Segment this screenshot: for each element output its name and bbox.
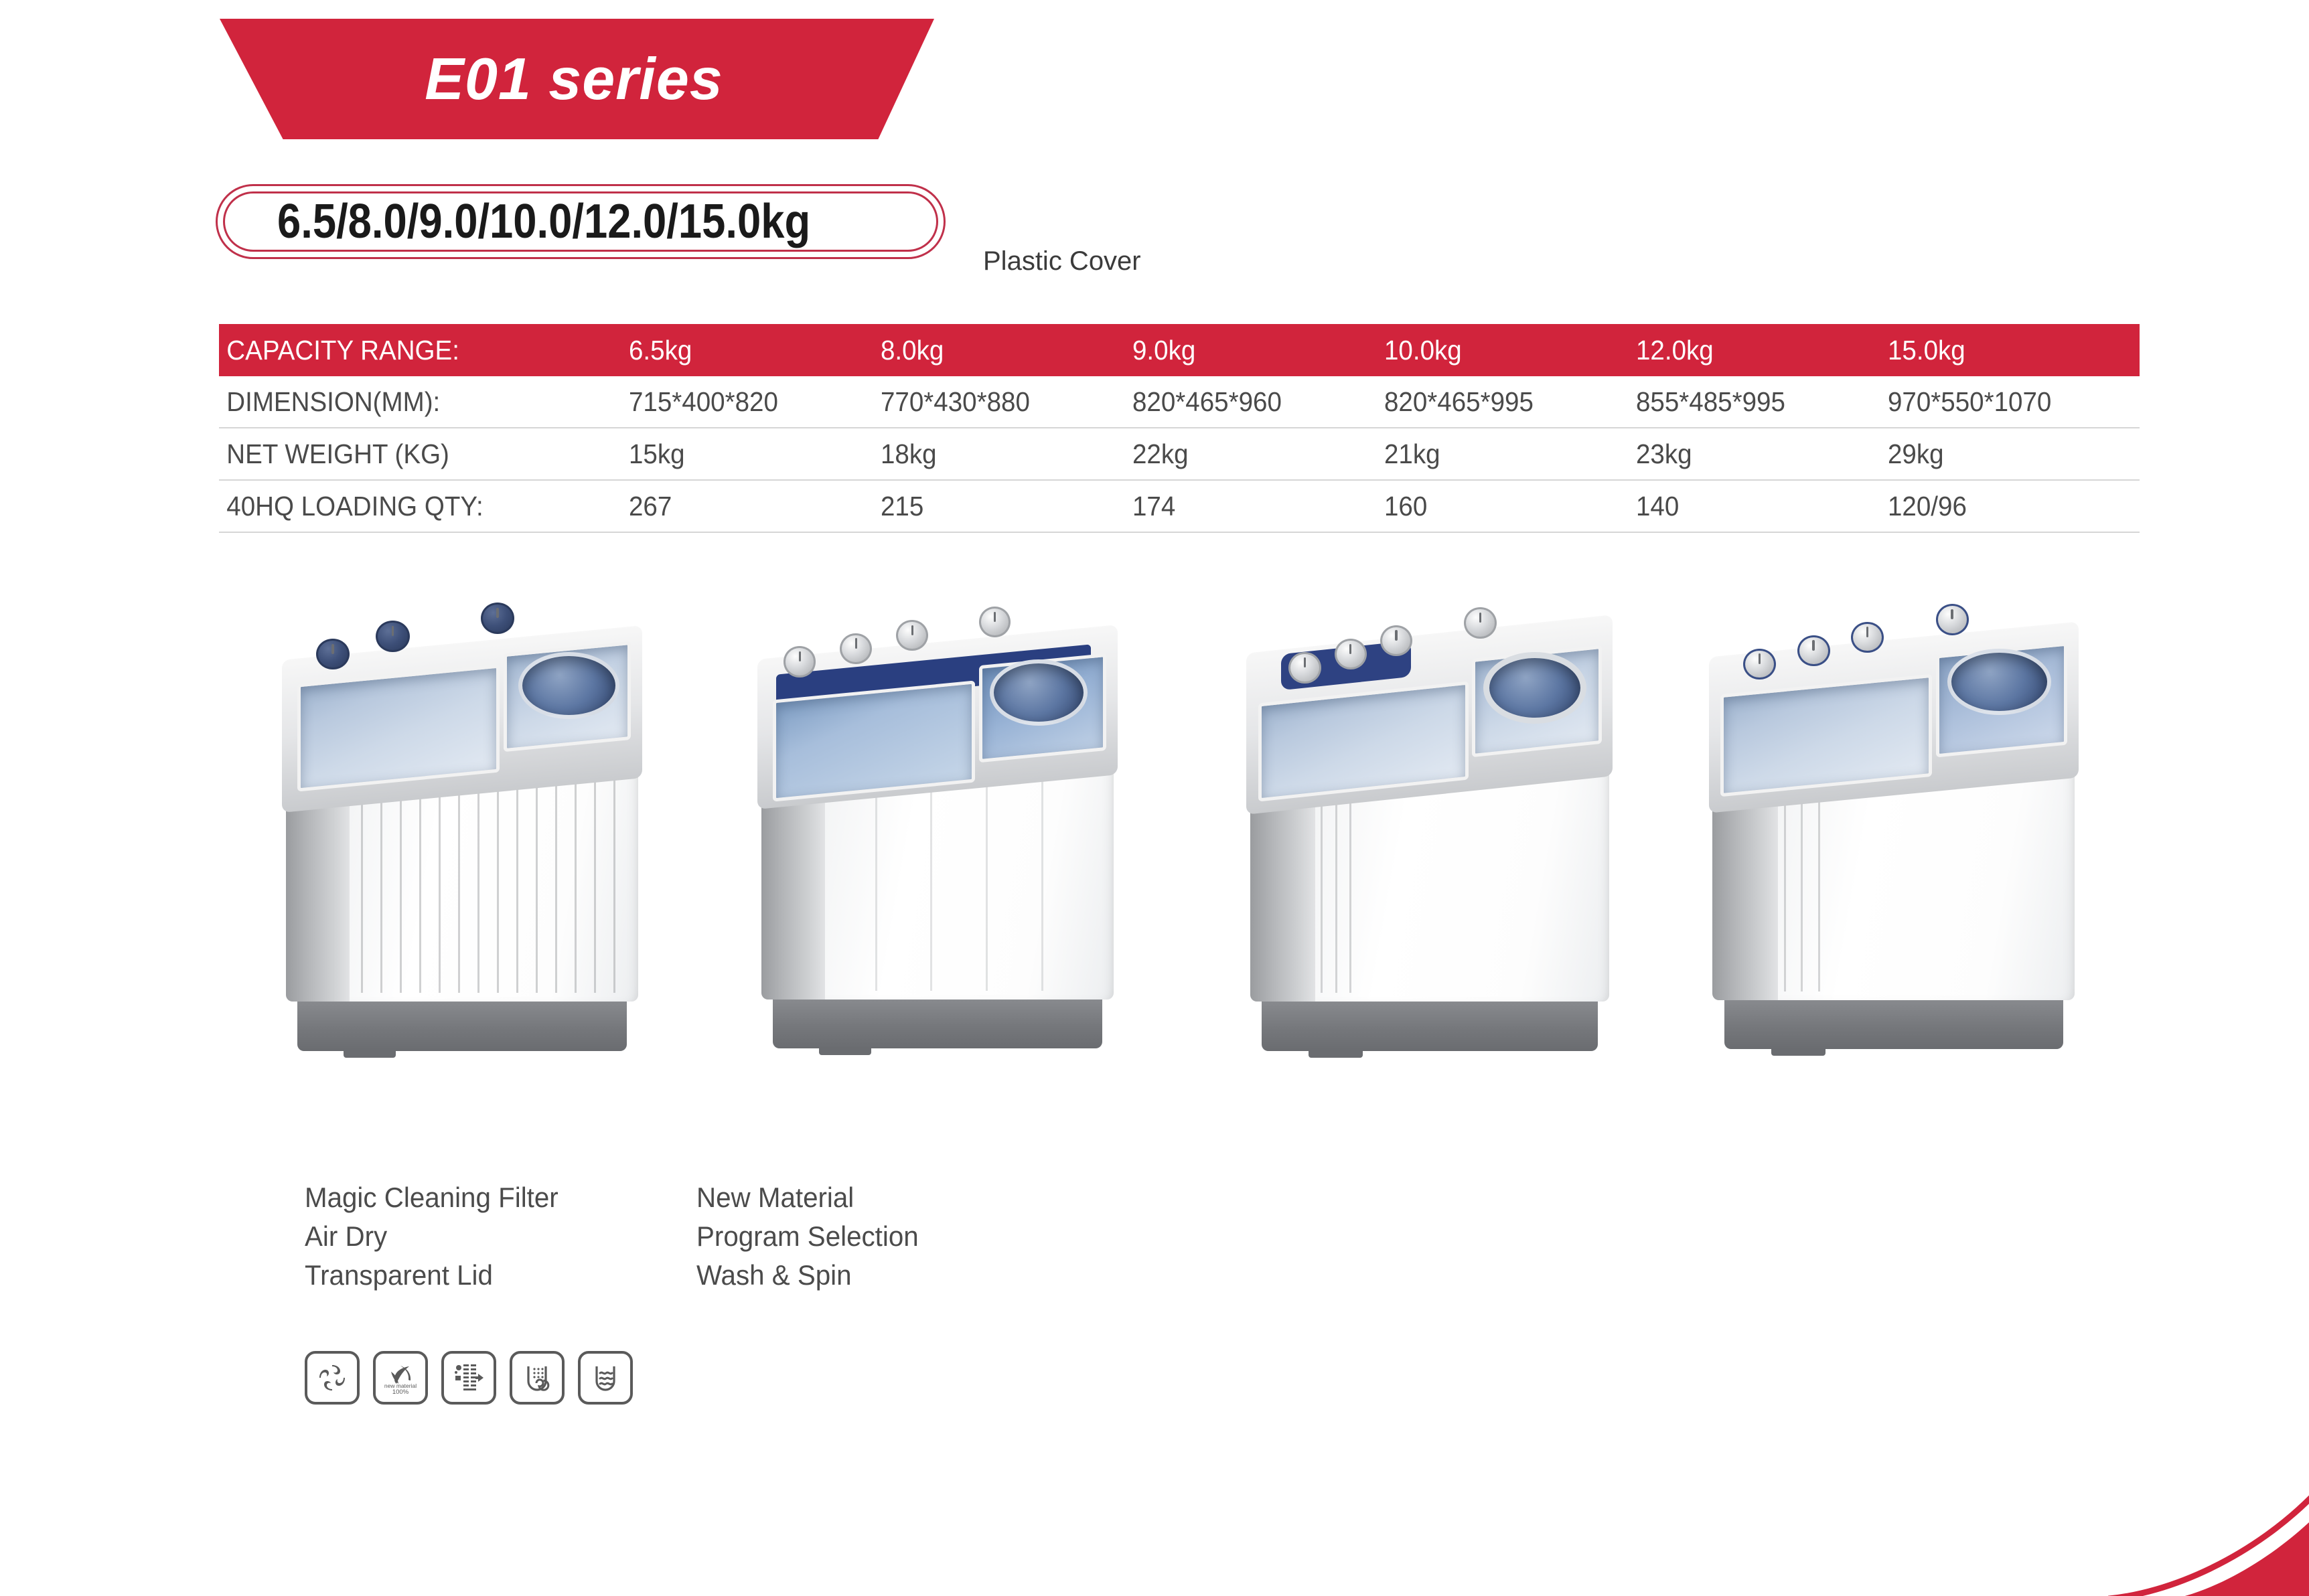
row-value: 21kg bbox=[1384, 438, 1621, 470]
page-title: E01 series bbox=[198, 19, 934, 139]
feature-badge-row: new material 100% bbox=[305, 1351, 633, 1405]
leaf-new-material-icon: new material 100% bbox=[382, 1360, 419, 1396]
wash-lid-glass bbox=[297, 665, 500, 792]
air-dry-spiral-icon bbox=[520, 1361, 554, 1394]
product-image-1 bbox=[275, 603, 650, 1051]
badge-air-dry bbox=[510, 1351, 565, 1405]
table-row: NET WEIGHT (KG) 15kg 18kg 22kg 21kg 23kg… bbox=[219, 428, 2140, 481]
corner-swoosh-decoration bbox=[2108, 1482, 2309, 1596]
product-image-3 bbox=[1239, 603, 1621, 1051]
table-header-row: CAPACITY RANGE: 6.5kg 8.0kg 9.0kg 10.0kg… bbox=[219, 324, 2140, 376]
feature-item: Magic Cleaning Filter bbox=[305, 1178, 558, 1217]
spin-timer-knob bbox=[1464, 607, 1496, 639]
program-knob bbox=[1851, 622, 1884, 653]
feature-item: Wash & Spin bbox=[696, 1256, 919, 1295]
spin-tub-port bbox=[1947, 649, 2051, 716]
spin-tub-port bbox=[990, 659, 1088, 726]
row-value: 215 bbox=[881, 491, 1117, 522]
series-banner: E01 series bbox=[198, 19, 934, 139]
header-value: 6.5kg bbox=[629, 335, 865, 366]
wash-timer-knob bbox=[1288, 652, 1321, 684]
program-knob bbox=[376, 621, 409, 652]
wash-lid-glass bbox=[773, 681, 975, 802]
header-value: 9.0kg bbox=[1132, 335, 1369, 366]
row-value: 23kg bbox=[1636, 438, 1872, 470]
header-value: 10.0kg bbox=[1384, 335, 1621, 366]
badge-vortex bbox=[305, 1351, 360, 1405]
table-row: DIMENSION(MM): 715*400*820 770*430*880 8… bbox=[219, 376, 2140, 428]
row-value: 18kg bbox=[881, 438, 1117, 470]
machine-base bbox=[773, 991, 1103, 1048]
header-value: 12.0kg bbox=[1636, 335, 1872, 366]
spin-timer-knob bbox=[481, 603, 514, 634]
vortex-spiral-icon bbox=[315, 1360, 350, 1395]
row-value: 22kg bbox=[1132, 438, 1369, 470]
spin-tub-port bbox=[518, 652, 619, 720]
svg-text:100%: 100% bbox=[392, 1388, 409, 1396]
spin-timer-knob bbox=[979, 607, 1011, 637]
header-value: 15.0kg bbox=[1888, 335, 2124, 366]
program-selection-icon bbox=[451, 1360, 486, 1395]
row-value: 855*485*995 bbox=[1636, 386, 1872, 418]
program-knob bbox=[896, 620, 928, 651]
wash-timer-knob bbox=[784, 646, 816, 677]
row-value: 120/96 bbox=[1888, 491, 2124, 522]
row-value: 820*465*960 bbox=[1132, 386, 1369, 418]
capacity-pill-text: 6.5/8.0/9.0/10.0/12.0/15.0kg bbox=[277, 194, 810, 249]
wash-selector-knob bbox=[1797, 635, 1830, 667]
row-value: 15kg bbox=[629, 438, 865, 470]
capacity-pill: 6.5/8.0/9.0/10.0/12.0/15.0kg bbox=[216, 184, 946, 259]
feature-column-left: Magic Cleaning Filter Air Dry Transparen… bbox=[305, 1178, 569, 1295]
row-label: DIMENSION(MM): bbox=[219, 386, 604, 418]
spec-table: CAPACITY RANGE: 6.5kg 8.0kg 9.0kg 10.0kg… bbox=[219, 324, 2140, 533]
spin-tub-port bbox=[1483, 652, 1586, 724]
cover-note-label: Plastic Cover bbox=[983, 246, 1141, 276]
row-value: 970*550*1070 bbox=[1888, 386, 2124, 418]
row-value: 140 bbox=[1636, 491, 1872, 522]
feature-column-right: New Material Program Selection Wash & Sp… bbox=[696, 1178, 928, 1295]
wash-lid-glass bbox=[1720, 673, 1932, 796]
capacity-pill-inner: 6.5/8.0/9.0/10.0/12.0/15.0kg bbox=[223, 191, 938, 252]
badge-wash-spin bbox=[578, 1351, 633, 1405]
header-label: CAPACITY RANGE: bbox=[219, 335, 604, 366]
feature-item: New Material bbox=[696, 1178, 919, 1217]
row-value: 715*400*820 bbox=[629, 386, 865, 418]
row-label: 40HQ LOADING QTY: bbox=[219, 491, 604, 522]
table-row: 40HQ LOADING QTY: 267 215 174 160 140 12… bbox=[219, 481, 2140, 533]
wash-selector-knob bbox=[840, 633, 872, 664]
badge-program-selection bbox=[441, 1351, 496, 1405]
product-gallery bbox=[221, 582, 2150, 1064]
wash-selector-knob bbox=[1335, 639, 1367, 670]
row-value: 160 bbox=[1384, 491, 1621, 522]
row-label: NET WEIGHT (KG) bbox=[219, 438, 604, 470]
badge-new-material: new material 100% bbox=[373, 1351, 428, 1405]
spin-timer-knob bbox=[1936, 604, 1969, 635]
row-value: 174 bbox=[1132, 491, 1369, 522]
wash-timer-knob bbox=[316, 639, 350, 670]
row-value: 820*465*995 bbox=[1384, 386, 1621, 418]
row-value: 267 bbox=[629, 491, 865, 522]
row-value: 770*430*880 bbox=[881, 386, 1117, 418]
header-value: 8.0kg bbox=[881, 335, 1117, 366]
feature-item: Transparent Lid bbox=[305, 1256, 558, 1295]
product-image-2 bbox=[750, 607, 1125, 1048]
feature-item: Air Dry bbox=[305, 1217, 558, 1256]
wash-timer-knob bbox=[1743, 649, 1776, 680]
feature-item: Program Selection bbox=[696, 1217, 919, 1256]
wash-spin-wave-icon bbox=[589, 1361, 622, 1394]
row-value: 29kg bbox=[1888, 438, 2124, 470]
product-image-4 bbox=[1701, 604, 2086, 1049]
